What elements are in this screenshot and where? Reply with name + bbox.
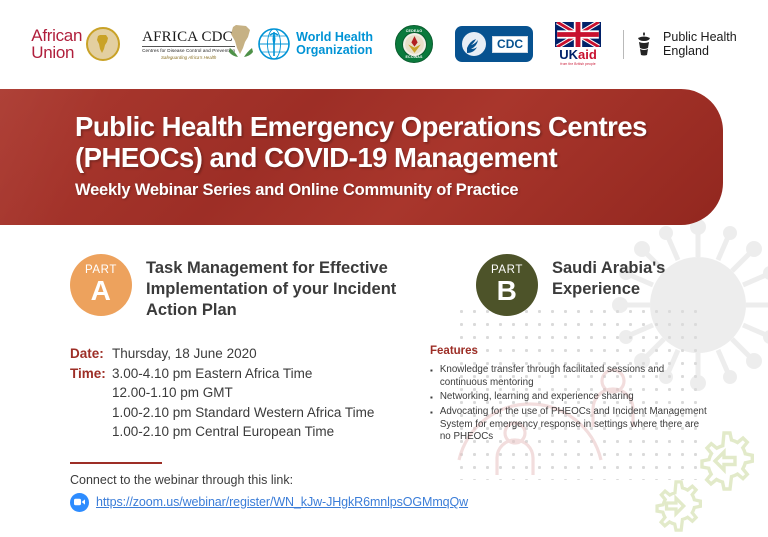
us-cdc-badge: CDC xyxy=(455,26,533,62)
part-b-title: Saudi Arabia's Experience xyxy=(552,254,712,300)
list-item: ▪ Networking, learning and experience sh… xyxy=(430,391,710,404)
feature-text-2: Networking, learning and experience shar… xyxy=(440,391,634,404)
who-line1: World Health xyxy=(296,31,373,45)
africa-cdc-title: AFRICA CDC xyxy=(142,29,233,46)
connect-instruction: Connect to the webinar through this link… xyxy=(70,473,468,487)
africa-cdc-subtitle: Centres for Disease Control and Preventi… xyxy=(142,46,235,53)
au-seal-icon xyxy=(86,27,120,61)
zoom-video-icon xyxy=(70,493,89,512)
time-value-2: 12.00-1.10 pm GMT xyxy=(112,383,374,403)
video-camera-icon xyxy=(74,498,85,506)
banner-subtitle: Weekly Webinar Series and Online Communi… xyxy=(75,181,703,200)
date-row: Date: Thursday, 18 June 2020 xyxy=(70,344,374,364)
partner-logo-bar: African Union AFRICA CDC Centres for Dis… xyxy=(0,0,768,88)
part-a-badge-letter: A xyxy=(91,277,112,305)
date-value: Thursday, 18 June 2020 xyxy=(112,344,257,364)
banner-title-line2: (PHEOCs) and COVID-19 Management xyxy=(75,142,703,173)
logo-ecowas: CEDEAO ECOWAS xyxy=(395,25,433,63)
ecowas-inner-emblem xyxy=(402,32,427,57)
ecowas-crest-icon xyxy=(403,33,426,56)
gear-icon-secondary xyxy=(645,475,707,537)
divider-rule xyxy=(70,462,162,464)
features-list: ▪ Knowledge transfer through facilitated… xyxy=(430,364,710,444)
who-line2: Organization xyxy=(296,44,373,58)
logo-uk-aid: UKaid from the British people xyxy=(555,22,601,66)
time-row: Time: 3.00-4.10 pm Eastern Africa Time xyxy=(70,364,374,384)
ukaid-aid-text: aid xyxy=(578,47,597,62)
features-heading: Features xyxy=(430,345,710,357)
bullet-icon: ▪ xyxy=(430,364,433,389)
banner-title-line1: Public Health Emergency Operations Centr… xyxy=(75,111,703,142)
ecowas-seal-icon: CEDEAO ECOWAS xyxy=(395,25,433,63)
date-label: Date: xyxy=(70,344,112,364)
logo-world-health-organization: World Health Organization xyxy=(257,27,373,61)
ecowas-bottom-text: ECOWAS xyxy=(396,55,432,59)
part-b-badge: PART B xyxy=(476,254,538,316)
time-label: Time: xyxy=(70,364,112,384)
logo-public-health-england: Public Health England xyxy=(623,30,737,59)
africa-cdc-tagline: Safeguarding Africa's Health xyxy=(161,55,216,60)
hhs-bird-icon xyxy=(460,31,488,57)
time-value-3: 1.00-2.10 pm Standard Western Africa Tim… xyxy=(112,403,374,423)
au-line2: Union xyxy=(31,44,82,61)
au-line1: African xyxy=(31,27,82,44)
union-jack-icon xyxy=(555,22,601,47)
time-value-1: 3.00-4.10 pm Eastern Africa Time xyxy=(112,364,312,384)
royal-crest-icon xyxy=(633,31,655,57)
feature-text-3: Advocating for the use of PHEOCs and Inc… xyxy=(440,406,710,444)
ukaid-subtitle: from the British people xyxy=(560,62,595,66)
bullet-icon: ▪ xyxy=(430,406,433,444)
logo-us-cdc: CDC xyxy=(455,26,533,62)
features-block: Features ▪ Knowledge transfer through fa… xyxy=(430,345,710,446)
title-banner: Public Health Emergency Operations Centr… xyxy=(0,89,723,225)
link-row: https://zoom.us/webinar/register/WN_kJw-… xyxy=(70,493,468,512)
phe-line2: England xyxy=(663,44,737,59)
ukaid-uk-text: UK xyxy=(559,47,578,62)
who-emblem-icon xyxy=(257,27,291,61)
webinar-registration-link[interactable]: https://zoom.us/webinar/register/WN_kJw-… xyxy=(96,495,468,509)
list-item: ▪ Advocating for the use of PHEOCs and I… xyxy=(430,406,710,444)
logo-african-union: African Union xyxy=(31,27,120,61)
event-details: Date: Thursday, 18 June 2020 Time: 3.00-… xyxy=(70,344,374,442)
ecowas-top-text: CEDEAO xyxy=(396,29,432,33)
feature-text-1: Knowledge transfer through facilitated s… xyxy=(440,364,710,389)
webinar-link-block: Connect to the webinar through this link… xyxy=(70,462,468,512)
part-a-badge: PART A xyxy=(70,254,132,316)
bullet-icon: ▪ xyxy=(430,391,433,404)
logo-africa-cdc: AFRICA CDC Centres for Disease Control a… xyxy=(142,29,235,60)
list-item: ▪ Knowledge transfer through facilitated… xyxy=(430,364,710,389)
us-cdc-label: CDC xyxy=(492,36,528,53)
time-value-4: 1.00-2.10 pm Central European Time xyxy=(112,422,374,442)
part-b-badge-letter: B xyxy=(497,277,518,305)
part-a-title: Task Management for Effective Implementa… xyxy=(146,254,411,321)
part-a-block: PART A Task Management for Effective Imp… xyxy=(70,254,411,321)
africa-cdc-map-icon xyxy=(227,24,255,58)
part-b-block: PART B Saudi Arabia's Experience xyxy=(476,254,712,316)
phe-line1: Public Health xyxy=(663,30,737,45)
africa-map-icon xyxy=(94,34,112,54)
